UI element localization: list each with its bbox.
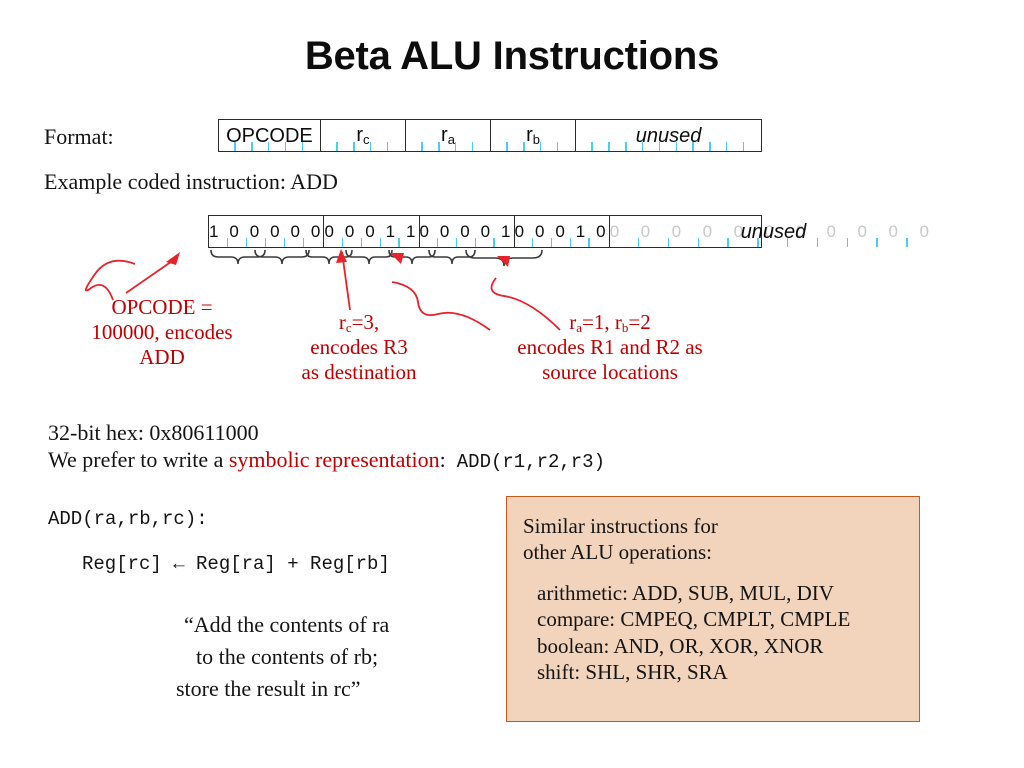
rb-value: =2 — [628, 310, 650, 334]
alu-operation-list: arithmetic: ADD, SUB, MUL, DIVcompare: C… — [523, 580, 919, 686]
page-title: Beta ALU Instructions — [0, 34, 1024, 79]
symbolic-instruction-code: ADD(r1,r2,r3) — [457, 451, 605, 473]
symbolic-representation-highlight: symbolic representation — [229, 447, 440, 472]
format-field-label: unused — [636, 126, 702, 146]
ra-rb-annotation-line2: encodes R1 and R2 as — [455, 335, 765, 360]
encoded-field-bits: 0 0 0 1 1 — [324, 223, 418, 240]
opcode-annotation-line1: OPCODE = — [42, 295, 282, 320]
format-field-label: ra — [441, 125, 455, 146]
opcode-annotation-line3: ADD — [42, 345, 282, 370]
rc-annotation-line2: encodes R3 — [264, 335, 454, 360]
alu-operation-row: shift: SHL, SHR, SRA — [523, 659, 919, 685]
encoded-field-bits: 0 0 0 1 0 — [515, 223, 609, 240]
format-field-label: rb — [526, 125, 540, 146]
format-field-label: rc — [356, 125, 369, 146]
hex-line: 32-bit hex: 0x80611000 — [48, 420, 259, 446]
encoded-field-4: 0 0 0 0 0 0 0 0 0 0 0unused — [610, 216, 938, 247]
rc-annotation-line1: rc=3, — [264, 310, 454, 335]
similar-heading-line2: other ALU operations: — [523, 539, 919, 565]
format-field-subscript: b — [533, 132, 540, 147]
similar-heading-line1: Similar instructions for — [523, 513, 919, 539]
ra-rb-annotation-line3: source locations — [455, 360, 765, 385]
encoded-field-bits: 0 0 0 0 1 — [420, 223, 514, 240]
encoded-field-bits: 1 0 0 0 0 0 — [209, 223, 323, 240]
format-field-rc: rc — [321, 120, 406, 151]
format-field-subscript: a — [448, 132, 455, 147]
ra-rb-annotation-line1: ra=1, rb=2 — [455, 310, 765, 335]
encoded-field-2: 0 0 0 0 1 — [420, 216, 515, 247]
quote-line2: to the contents of rb; — [196, 644, 378, 670]
rc-annotation: rc=3, encodes R3 as destination — [264, 310, 454, 385]
instruction-format-diagram: OPCODErcrarbunused — [218, 119, 762, 152]
symbolic-representation-line: We prefer to write a symbolic representa… — [48, 447, 605, 473]
ra-value: =1, — [582, 310, 615, 334]
quote-line3: store the result in rc” — [176, 676, 361, 702]
alu-operation-row: compare: CMPEQ, CMPLT, CMPLE — [523, 606, 919, 632]
rc-annotation-line3: as destination — [264, 360, 454, 385]
alu-operation-row: arithmetic: ADD, SUB, MUL, DIV — [523, 580, 919, 606]
opcode-annotation: OPCODE = 100000, encodes ADD — [42, 295, 282, 369]
encoded-field-3: 0 0 0 1 0 — [515, 216, 610, 247]
example-label: Example coded instruction: ADD — [44, 169, 338, 195]
alu-operation-row: boolean: AND, OR, XOR, XNOR — [523, 633, 919, 659]
format-field-ra: ra — [406, 120, 491, 151]
encoded-field-0: 1 0 0 0 0 0 — [209, 216, 324, 247]
similar-instructions-box: Similar instructions for other ALU opera… — [506, 496, 920, 722]
rb-symbol: r — [615, 310, 622, 334]
quote-line1: “Add the contents of ra — [184, 612, 389, 638]
format-field-rb: rb — [491, 120, 576, 151]
rc-value: =3, — [352, 310, 380, 334]
rc-symbol: r — [339, 310, 346, 334]
format-label: Format: — [44, 124, 114, 150]
add-signature: ADD(ra,rb,rc): — [48, 508, 208, 530]
opcode-annotation-line2: 100000, encodes — [42, 320, 282, 345]
add-body: Reg[rc] ← Reg[ra] + Reg[rb] — [82, 553, 390, 575]
encoded-field-bits: 0 0 0 0 0 0 0 0 0 0 0 — [610, 223, 938, 240]
encoded-field-1: 0 0 0 1 1 — [324, 216, 419, 247]
format-field-subscript: c — [363, 132, 370, 147]
format-field-unused: unused — [576, 120, 761, 151]
prefer-prefix: We prefer to write a — [48, 447, 229, 472]
format-field-label: OPCODE — [226, 126, 313, 146]
encoded-instruction-diagram: 1 0 0 0 0 00 0 0 1 10 0 0 0 10 0 0 1 00 … — [208, 215, 762, 248]
slide-canvas: Beta ALU Instructions Format: OPCODErcra… — [0, 0, 1024, 768]
ra-rb-annotation: ra=1, rb=2 encodes R1 and R2 as source l… — [455, 310, 765, 385]
format-field-opcode: OPCODE — [219, 120, 321, 151]
